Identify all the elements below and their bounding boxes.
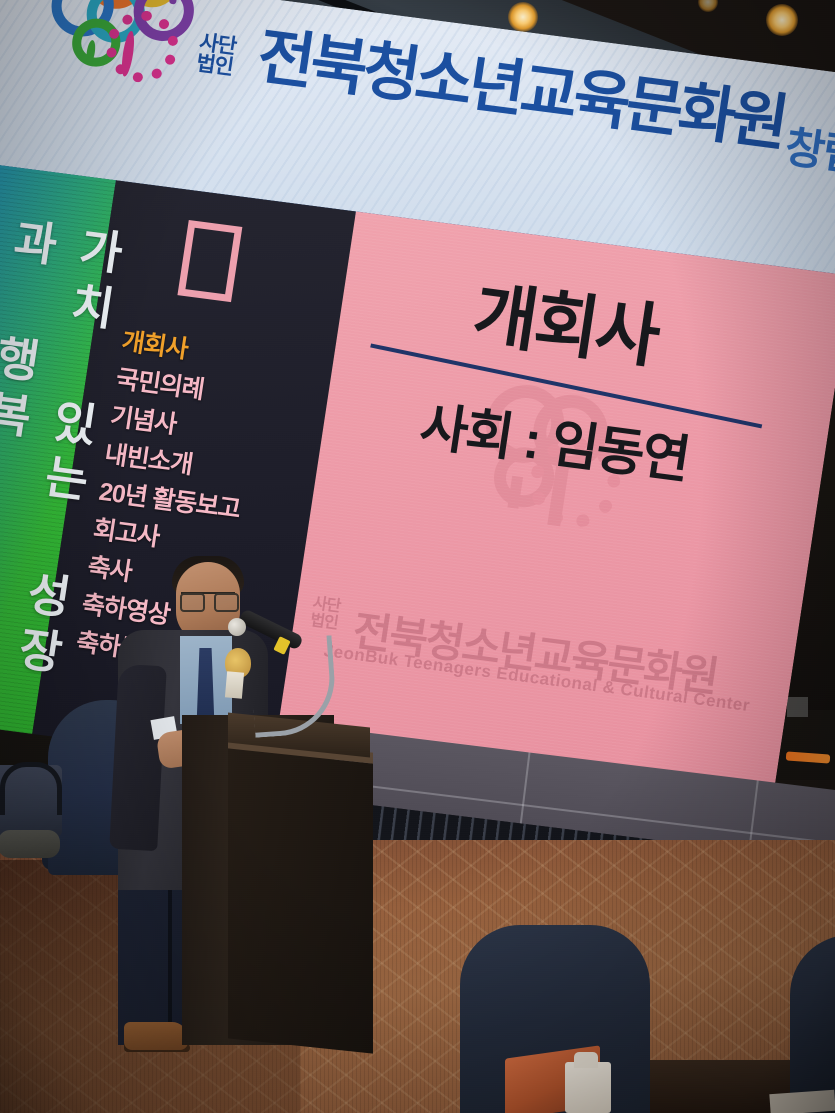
banner-org-name: 전북청소년교육문화원 (253, 24, 789, 158)
microphone-icon (228, 618, 246, 636)
bottle-cap (574, 1052, 598, 1068)
name-badge (225, 671, 244, 698)
watermark-prefix-line2: 법인 (309, 612, 339, 632)
ceiling-light-icon (508, 2, 538, 32)
speaker-leg-seam (168, 890, 172, 1040)
ceiling-light-icon (766, 4, 798, 36)
white-bottle (565, 1062, 611, 1113)
event-photo-scene: 사단 법인 전북청소년교육문화원 창립 20주년 20 가치 있는 성장과 행복… (0, 0, 835, 1113)
banner-org-prefix-line2: 법인 (195, 53, 234, 78)
organization-logo-icon (32, 0, 199, 102)
speaker-shoe (124, 1022, 188, 1050)
glasses-icon (181, 592, 235, 609)
banner-occasion: 창립 20주년 (782, 125, 835, 197)
banner-org-prefix: 사단 법인 (195, 32, 238, 78)
folded-cloth (0, 830, 60, 858)
ceiling-light-icon (698, 0, 718, 12)
bag-handle (0, 762, 62, 815)
wall-panel (787, 697, 808, 717)
watermark-prefix: 사단 법인 (309, 595, 341, 632)
paper-sheet (769, 1090, 835, 1113)
podium-front (228, 748, 373, 1053)
